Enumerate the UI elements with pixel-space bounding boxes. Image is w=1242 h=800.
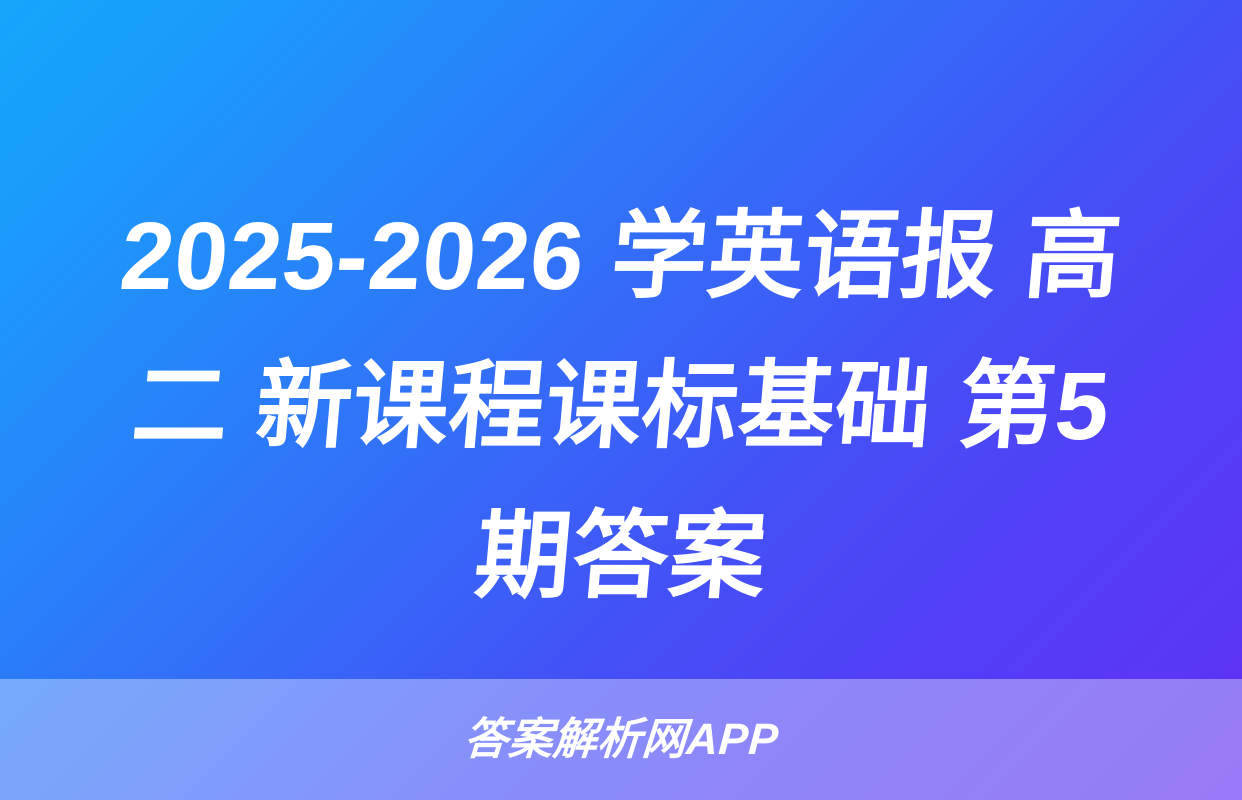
watermark-text: 答案解析网APP bbox=[462, 718, 780, 762]
title-line-1: 2025-2026 学英语报 高 bbox=[57, 182, 1184, 332]
poster-canvas: 2025-2026 学英语报 高 二 新课程课标基础 第5 期答案 答案解析网A… bbox=[0, 0, 1242, 800]
page-title: 2025-2026 学英语报 高 二 新课程课标基础 第5 期答案 bbox=[0, 182, 1242, 632]
title-line-3: 期答案 bbox=[57, 482, 1184, 632]
watermark-band: 答案解析网APP bbox=[0, 679, 1242, 800]
title-line-2: 二 新课程课标基础 第5 bbox=[57, 332, 1184, 482]
